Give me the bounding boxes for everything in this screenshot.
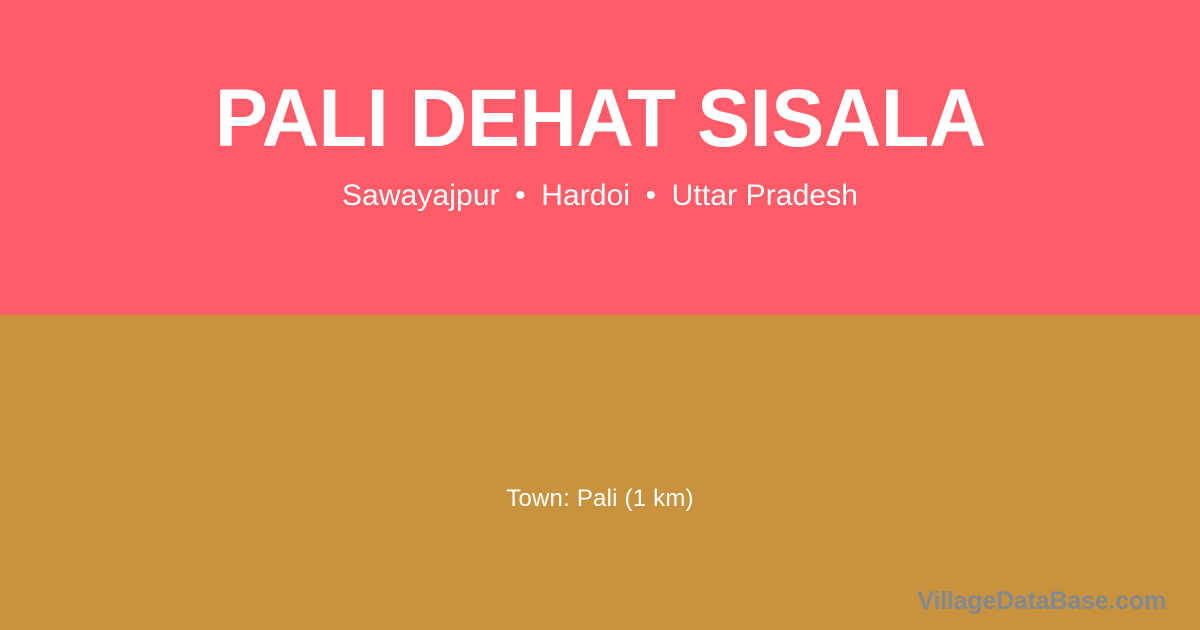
breadcrumb: Sawayajpur • Hardoi • Uttar Pradesh — [342, 178, 858, 214]
breadcrumb-separator-icon: • — [508, 178, 533, 214]
breadcrumb-separator-icon: • — [639, 178, 664, 214]
header-banner: PALI DEHAT SISALA Sawayajpur • Hardoi • … — [0, 0, 1200, 315]
body-panel: Town: Pali (1 km) VillageDataBase.com — [0, 315, 1200, 630]
breadcrumb-block: Sawayajpur — [342, 179, 500, 212]
nearest-town-detail: Town: Pali (1 km) — [0, 485, 1200, 513]
page-title: PALI DEHAT SISALA — [215, 78, 986, 160]
breadcrumb-state: Uttar Pradesh — [672, 179, 858, 212]
site-watermark: VillageDataBase.com — [917, 587, 1166, 616]
breadcrumb-district: Hardoi — [541, 179, 630, 212]
village-info-card: PALI DEHAT SISALA Sawayajpur • Hardoi • … — [0, 0, 1200, 630]
